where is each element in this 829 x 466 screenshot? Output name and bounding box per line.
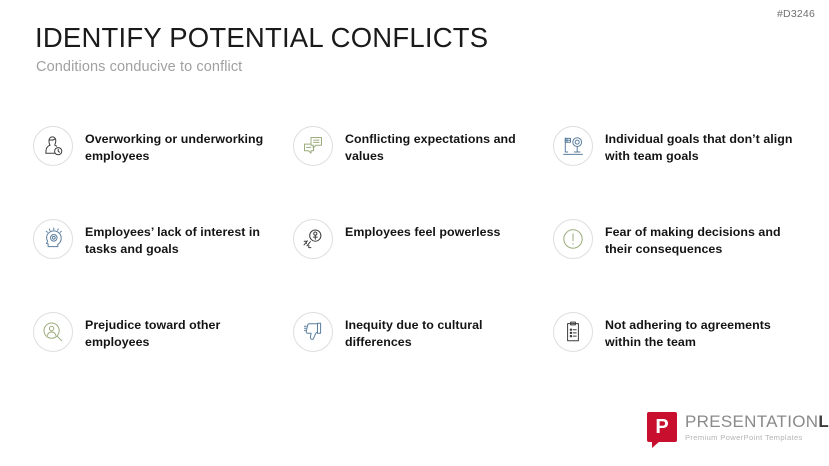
list-item[interactable]: Individual goals that don’t align with t… bbox=[553, 125, 803, 218]
logo-mark-icon: P bbox=[647, 412, 677, 442]
list-item[interactable]: Employees feel powerless bbox=[293, 218, 553, 311]
list-item[interactable]: Prejudice toward other employees bbox=[33, 311, 293, 404]
list-item[interactable]: Employees’ lack of interest in tasks and… bbox=[33, 218, 293, 311]
person-under-pressure-icon bbox=[293, 219, 333, 259]
list-item-label: Not adhering to agreements within the te… bbox=[605, 311, 800, 350]
clipboard-checklist-icon bbox=[553, 312, 593, 352]
list-item-label: Individual goals that don’t align with t… bbox=[605, 125, 800, 164]
list-item[interactable]: Not adhering to agreements within the te… bbox=[553, 311, 803, 404]
logo-text: PRESENTATIONLOAD® Premium PowerPoint Tem… bbox=[685, 413, 829, 442]
list-item-label: Employees feel powerless bbox=[345, 218, 500, 241]
flag-target-podium-icon bbox=[553, 126, 593, 166]
logo-mark-letter: P bbox=[647, 412, 677, 442]
magnifier-person-icon bbox=[33, 312, 73, 352]
logo-tagline: Premium PowerPoint Templates bbox=[685, 434, 829, 442]
list-item-label: Inequity due to cultural differences bbox=[345, 311, 540, 350]
list-item-label: Prejudice toward other employees bbox=[85, 311, 280, 350]
speech-bubbles-icon bbox=[293, 126, 333, 166]
page-subtitle: Conditions conducive to conflict bbox=[36, 59, 488, 75]
logo-word-bold: LOAD bbox=[818, 412, 829, 431]
slide-header: IDENTIFY POTENTIAL CONFLICTS Conditions … bbox=[35, 24, 488, 75]
list-item-label: Fear of making decisions and their conse… bbox=[605, 218, 800, 257]
exclamation-circle-icon bbox=[553, 219, 593, 259]
page-title: IDENTIFY POTENTIAL CONFLICTS bbox=[35, 24, 488, 53]
list-item-label: Conflicting expectations and values bbox=[345, 125, 540, 164]
logo-word-light: PRESENTATION bbox=[685, 412, 818, 431]
conflict-conditions-grid: Overworking or underworking employees Co… bbox=[33, 125, 803, 404]
list-item[interactable]: Overworking or underworking employees bbox=[33, 125, 293, 218]
list-item[interactable]: Fear of making decisions and their conse… bbox=[553, 218, 803, 311]
slide-id-label: #D3246 bbox=[777, 8, 815, 20]
logo-wordmark: PRESENTATIONLOAD® bbox=[685, 412, 829, 431]
list-item[interactable]: Conflicting expectations and values bbox=[293, 125, 553, 218]
thumbs-down-icon bbox=[293, 312, 333, 352]
employee-clock-icon bbox=[33, 126, 73, 166]
head-brain-icon bbox=[33, 219, 73, 259]
list-item[interactable]: Inequity due to cultural differences bbox=[293, 311, 553, 404]
list-item-label: Employees’ lack of interest in tasks and… bbox=[85, 218, 280, 257]
presentationload-logo: P PRESENTATIONLOAD® Premium PowerPoint T… bbox=[647, 412, 829, 442]
list-item-label: Overworking or underworking employees bbox=[85, 125, 280, 164]
